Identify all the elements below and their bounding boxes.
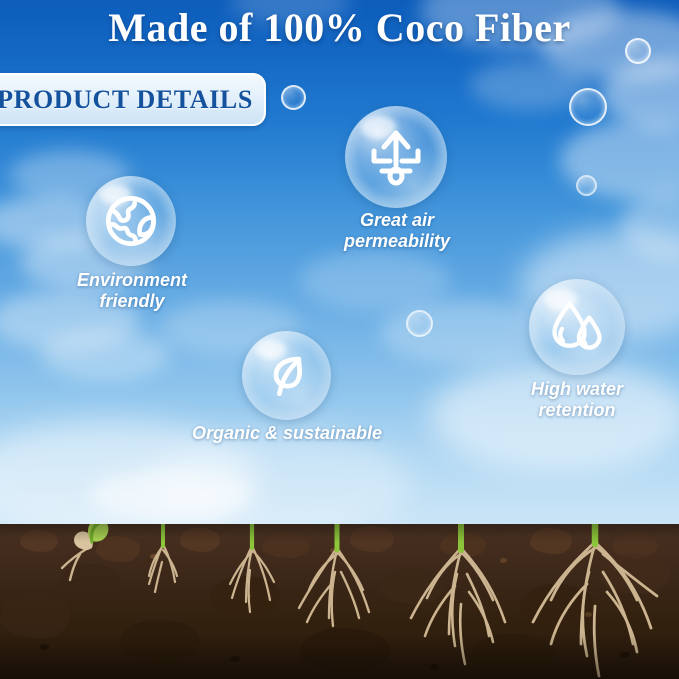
decorative-bubble <box>406 310 433 337</box>
feature-caption: Great air permeability <box>317 210 477 252</box>
page-title: Made of 100% Coco Fiber <box>0 4 679 51</box>
air-arrow-icon <box>364 125 428 189</box>
feature-bubble <box>529 279 625 375</box>
feature-caption: Environment friendly <box>62 270 202 312</box>
decorative-bubble <box>625 38 651 64</box>
feature-caption: High water retention <box>507 379 647 421</box>
leaf-icon <box>260 349 314 403</box>
decorative-bubble <box>569 88 607 126</box>
soil-cross-section <box>0 524 679 679</box>
feature-bubble <box>86 176 176 266</box>
feature-bubble <box>242 331 331 420</box>
feature-organic-sustainable[interactable]: Organic & sustainable <box>242 331 332 420</box>
product-detail-banner: Made of 100% Coco Fiber PRODUCT DETAILS … <box>0 0 679 679</box>
feature-caption: Organic & sustainable <box>164 423 410 444</box>
globe-icon <box>102 192 160 250</box>
feature-great-air-permeability[interactable]: Great air permeability <box>345 106 449 208</box>
water-drops-icon <box>547 297 607 357</box>
decorative-bubble <box>281 85 306 110</box>
feature-environment-friendly[interactable]: Environment friendly <box>86 176 178 266</box>
product-details-badge[interactable]: PRODUCT DETAILS <box>0 73 266 126</box>
feature-bubble <box>345 106 447 208</box>
feature-high-water-retention[interactable]: High water retention <box>529 279 626 375</box>
decorative-bubble <box>576 175 597 196</box>
product-details-badge-label: PRODUCT DETAILS <box>0 85 253 115</box>
